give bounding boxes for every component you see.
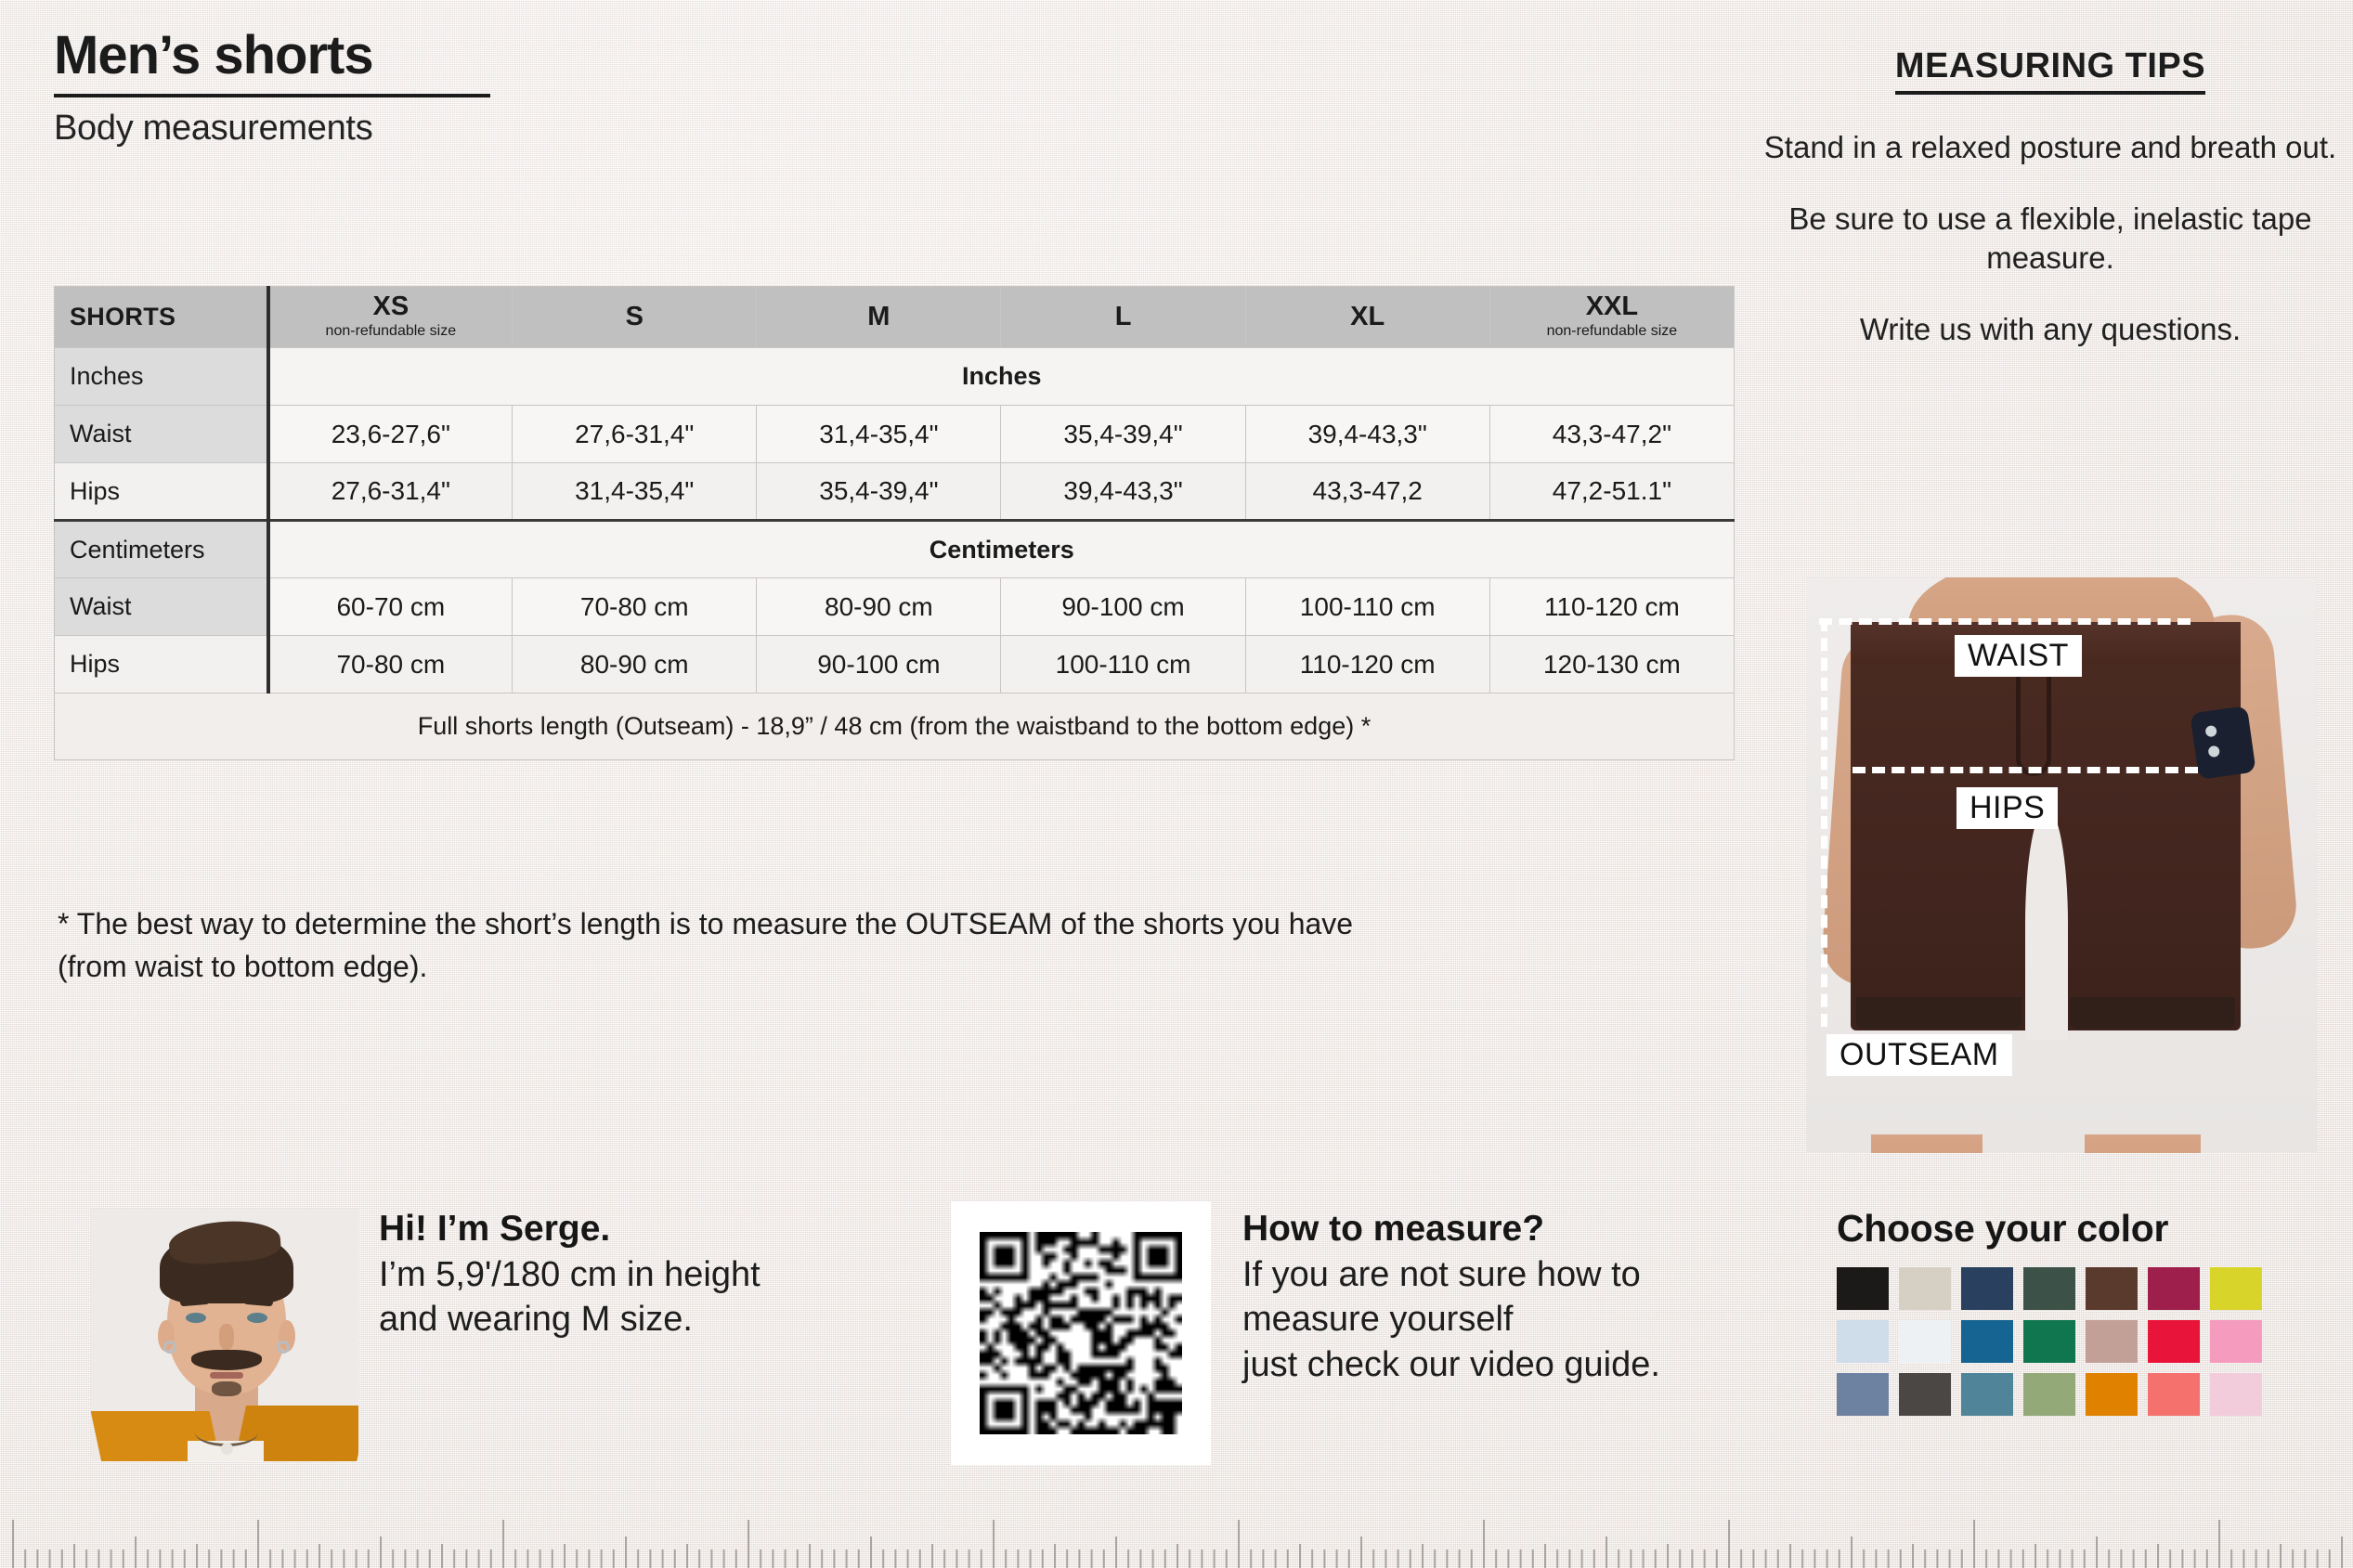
shorts-left-cuff <box>1856 997 2021 1029</box>
shorts-inseam-gap <box>2025 808 2068 1040</box>
shorts-right-cuff <box>2070 997 2235 1029</box>
page-subtitle: Body measurements <box>54 109 537 149</box>
color-swatch[interactable] <box>2210 1267 2262 1310</box>
cell-inches-waist-xxl: 43,3-47,2" <box>1489 406 1734 463</box>
size-label: XXL <box>1490 293 1734 320</box>
table-length-note: Full shorts length (Outseam) - 18,9” / 4… <box>55 693 1735 760</box>
row-label-waist-cm: Waist <box>55 578 268 636</box>
inches-unit-row: Inches Inches <box>55 348 1735 406</box>
color-swatch[interactable] <box>2086 1267 2138 1310</box>
size-label: XL <box>1246 304 1489 330</box>
cell-inches-hips-xs: 27,6-31,4" <box>268 463 513 521</box>
shorts-drawstring <box>2016 674 2051 776</box>
row-label-hips-inches: Hips <box>55 463 268 521</box>
table-row-inches-waist: Waist 23,6-27,6" 27,6-31,4" 31,4-35,4" 3… <box>55 406 1735 463</box>
cell-inches-hips-l: 39,4-43,3" <box>1001 463 1245 521</box>
color-swatch[interactable] <box>1899 1373 1951 1416</box>
cell-inches-hips-xxl: 47,2-51.1" <box>1489 463 1734 521</box>
color-swatch[interactable] <box>2148 1320 2200 1363</box>
cell-inches-hips-s: 31,4-35,4" <box>513 463 757 521</box>
cell-inches-hips-xl: 43,3-47,2 <box>1245 463 1489 521</box>
cell-inches-waist-s: 27,6-31,4" <box>513 406 757 463</box>
cell-cm-hips-m: 90-100 cm <box>757 636 1001 693</box>
row-label-hips-cm: Hips <box>55 636 268 693</box>
color-swatch[interactable] <box>2023 1373 2075 1416</box>
color-swatch[interactable] <box>2086 1320 2138 1363</box>
portrait-soul-patch <box>212 1381 241 1396</box>
size-column-header-s: S <box>513 287 757 348</box>
color-chooser-title: Choose your color <box>1837 1207 2301 1251</box>
how-to-measure-line-2: measure yourself <box>1242 1297 1837 1342</box>
title-block: Men’s shorts Body measurements <box>54 28 537 149</box>
size-chart-table-wrapper: SHORTS XS non-refundable size S M L <box>54 286 1735 760</box>
cell-cm-waist-l: 90-100 cm <box>1001 578 1245 636</box>
model-intro-text: Hi! I’m Serge. I’m 5,9'/180 cm in height… <box>379 1207 936 1342</box>
model-left-leg <box>1871 1134 1982 1153</box>
portrait-left-earring <box>163 1341 176 1354</box>
cell-cm-hips-xl: 110-120 cm <box>1245 636 1489 693</box>
how-to-measure-line-1: If you are not sure how to <box>1242 1252 1837 1298</box>
inches-span-label: Inches <box>268 348 1735 406</box>
color-swatch[interactable] <box>1961 1267 2013 1310</box>
size-label: S <box>513 304 756 330</box>
color-swatch[interactable] <box>1837 1267 1889 1310</box>
qr-code-canvas[interactable] <box>980 1232 1182 1434</box>
title-underline-rule <box>54 94 490 97</box>
portrait-right-earring <box>277 1341 290 1354</box>
size-chart-table: SHORTS XS non-refundable size S M L <box>54 286 1735 760</box>
shorts-measurement-photo: WAIST HIPS OUTSEAM <box>1806 577 2317 1153</box>
table-row-inches-hips: Hips 27,6-31,4" 31,4-35,4" 35,4-39,4" 39… <box>55 463 1735 521</box>
cell-cm-waist-xxl: 110-120 cm <box>1489 578 1734 636</box>
row-label-waist-inches: Waist <box>55 406 268 463</box>
color-swatch[interactable] <box>2210 1320 2262 1363</box>
cell-inches-waist-xs: 23,6-27,6" <box>268 406 513 463</box>
measuring-tips-heading: MEASURING TIPS <box>1895 46 2205 95</box>
table-header-row: SHORTS XS non-refundable size S M L <box>55 287 1735 348</box>
inches-unit-label: Inches <box>55 348 268 406</box>
model-height-line: I’m 5,9'/180 cm in height <box>379 1252 936 1298</box>
size-column-header-xs: XS non-refundable size <box>268 287 513 348</box>
color-chooser-block: Choose your color <box>1837 1207 2301 1416</box>
color-swatch[interactable] <box>1899 1267 1951 1310</box>
cell-inches-hips-m: 35,4-39,4" <box>757 463 1001 521</box>
model-right-leg <box>2085 1134 2201 1153</box>
color-swatch[interactable] <box>2210 1373 2262 1416</box>
size-label: XS <box>270 293 513 320</box>
waist-label: WAIST <box>1955 635 2082 677</box>
outseam-guide-line <box>1821 618 1827 1027</box>
color-swatch[interactable] <box>2086 1373 2138 1416</box>
portrait-left-eye <box>186 1313 206 1323</box>
portrait-moustache <box>191 1350 262 1370</box>
hips-label: HIPS <box>1956 787 2058 829</box>
color-swatch-grid[interactable] <box>1837 1267 2301 1416</box>
how-to-measure-block: How to measure? If you are not sure how … <box>1242 1207 1837 1388</box>
size-note: non-refundable size <box>1490 322 1734 340</box>
cell-cm-hips-l: 100-110 cm <box>1001 636 1245 693</box>
portrait-right-eye <box>247 1313 267 1323</box>
table-row-cm-waist: Waist 60-70 cm 70-80 cm 80-90 cm 90-100 … <box>55 578 1735 636</box>
measuring-tip-3: Write us with any questions. <box>1753 310 2347 348</box>
color-swatch[interactable] <box>1961 1373 2013 1416</box>
portrait-nose <box>219 1324 234 1350</box>
color-swatch[interactable] <box>2023 1320 2075 1363</box>
hips-guide-line <box>1852 767 2198 773</box>
centimeters-unit-label: Centimeters <box>55 521 268 578</box>
model-greeting: Hi! I’m Serge. <box>379 1207 936 1252</box>
color-swatch[interactable] <box>1961 1320 2013 1363</box>
size-column-header-l: L <box>1001 287 1245 348</box>
table-length-note-row: Full shorts length (Outseam) - 18,9” / 4… <box>55 693 1735 760</box>
measuring-tip-2: Be sure to use a flexible, inelastic tap… <box>1753 200 2347 277</box>
size-column-header-xl: XL <box>1245 287 1489 348</box>
page-title: Men’s shorts <box>54 28 537 84</box>
centimeters-span-label: Centimeters <box>268 521 1735 578</box>
size-column-header-xxl: XXL non-refundable size <box>1489 287 1734 348</box>
outseam-footnote: * The best way to determine the short’s … <box>58 902 1404 989</box>
model-wrist-watch <box>2190 706 2255 780</box>
cell-cm-waist-xl: 100-110 cm <box>1245 578 1489 636</box>
model-size-line: and wearing M size. <box>379 1297 936 1342</box>
measuring-tips-block: MEASURING TIPS Stand in a relaxed postur… <box>1753 46 2347 348</box>
ruler-strip <box>0 1479 2353 1568</box>
color-swatch[interactable] <box>2023 1267 2075 1310</box>
color-swatch[interactable] <box>1899 1320 1951 1363</box>
table-corner-label: SHORTS <box>55 287 268 348</box>
cell-cm-hips-xxl: 120-130 cm <box>1489 636 1734 693</box>
portrait-mouth <box>210 1372 243 1379</box>
cell-cm-waist-s: 70-80 cm <box>513 578 757 636</box>
color-swatch[interactable] <box>1837 1320 1889 1363</box>
color-swatch[interactable] <box>1837 1373 1889 1416</box>
cell-inches-waist-l: 35,4-39,4" <box>1001 406 1245 463</box>
how-to-measure-heading: How to measure? <box>1242 1207 1837 1252</box>
cell-inches-waist-xl: 39,4-43,3" <box>1245 406 1489 463</box>
measuring-tip-1: Stand in a relaxed posture and breath ou… <box>1753 128 2347 166</box>
size-note: non-refundable size <box>270 322 513 340</box>
cell-cm-waist-xs: 60-70 cm <box>268 578 513 636</box>
waist-guide-line <box>1819 618 2190 625</box>
table-row-cm-hips: Hips 70-80 cm 80-90 cm 90-100 cm 100-110… <box>55 636 1735 693</box>
size-label: L <box>1001 304 1244 330</box>
ruler-ticks <box>0 1479 2353 1568</box>
outseam-label: OUTSEAM <box>1826 1034 2012 1076</box>
size-column-header-m: M <box>757 287 1001 348</box>
color-swatch[interactable] <box>2148 1267 2200 1310</box>
cell-cm-waist-m: 80-90 cm <box>757 578 1001 636</box>
portrait-pendant <box>221 1443 233 1455</box>
model-portrait-photo <box>91 1209 358 1461</box>
centimeters-unit-row: Centimeters Centimeters <box>55 521 1735 578</box>
video-guide-qr-code[interactable] <box>951 1201 1211 1465</box>
size-label: M <box>757 304 1000 330</box>
cell-cm-hips-xs: 70-80 cm <box>268 636 513 693</box>
cell-inches-waist-m: 31,4-35,4" <box>757 406 1001 463</box>
color-swatch[interactable] <box>2148 1373 2200 1416</box>
how-to-measure-line-3: just check our video guide. <box>1242 1342 1837 1388</box>
cell-cm-hips-s: 80-90 cm <box>513 636 757 693</box>
